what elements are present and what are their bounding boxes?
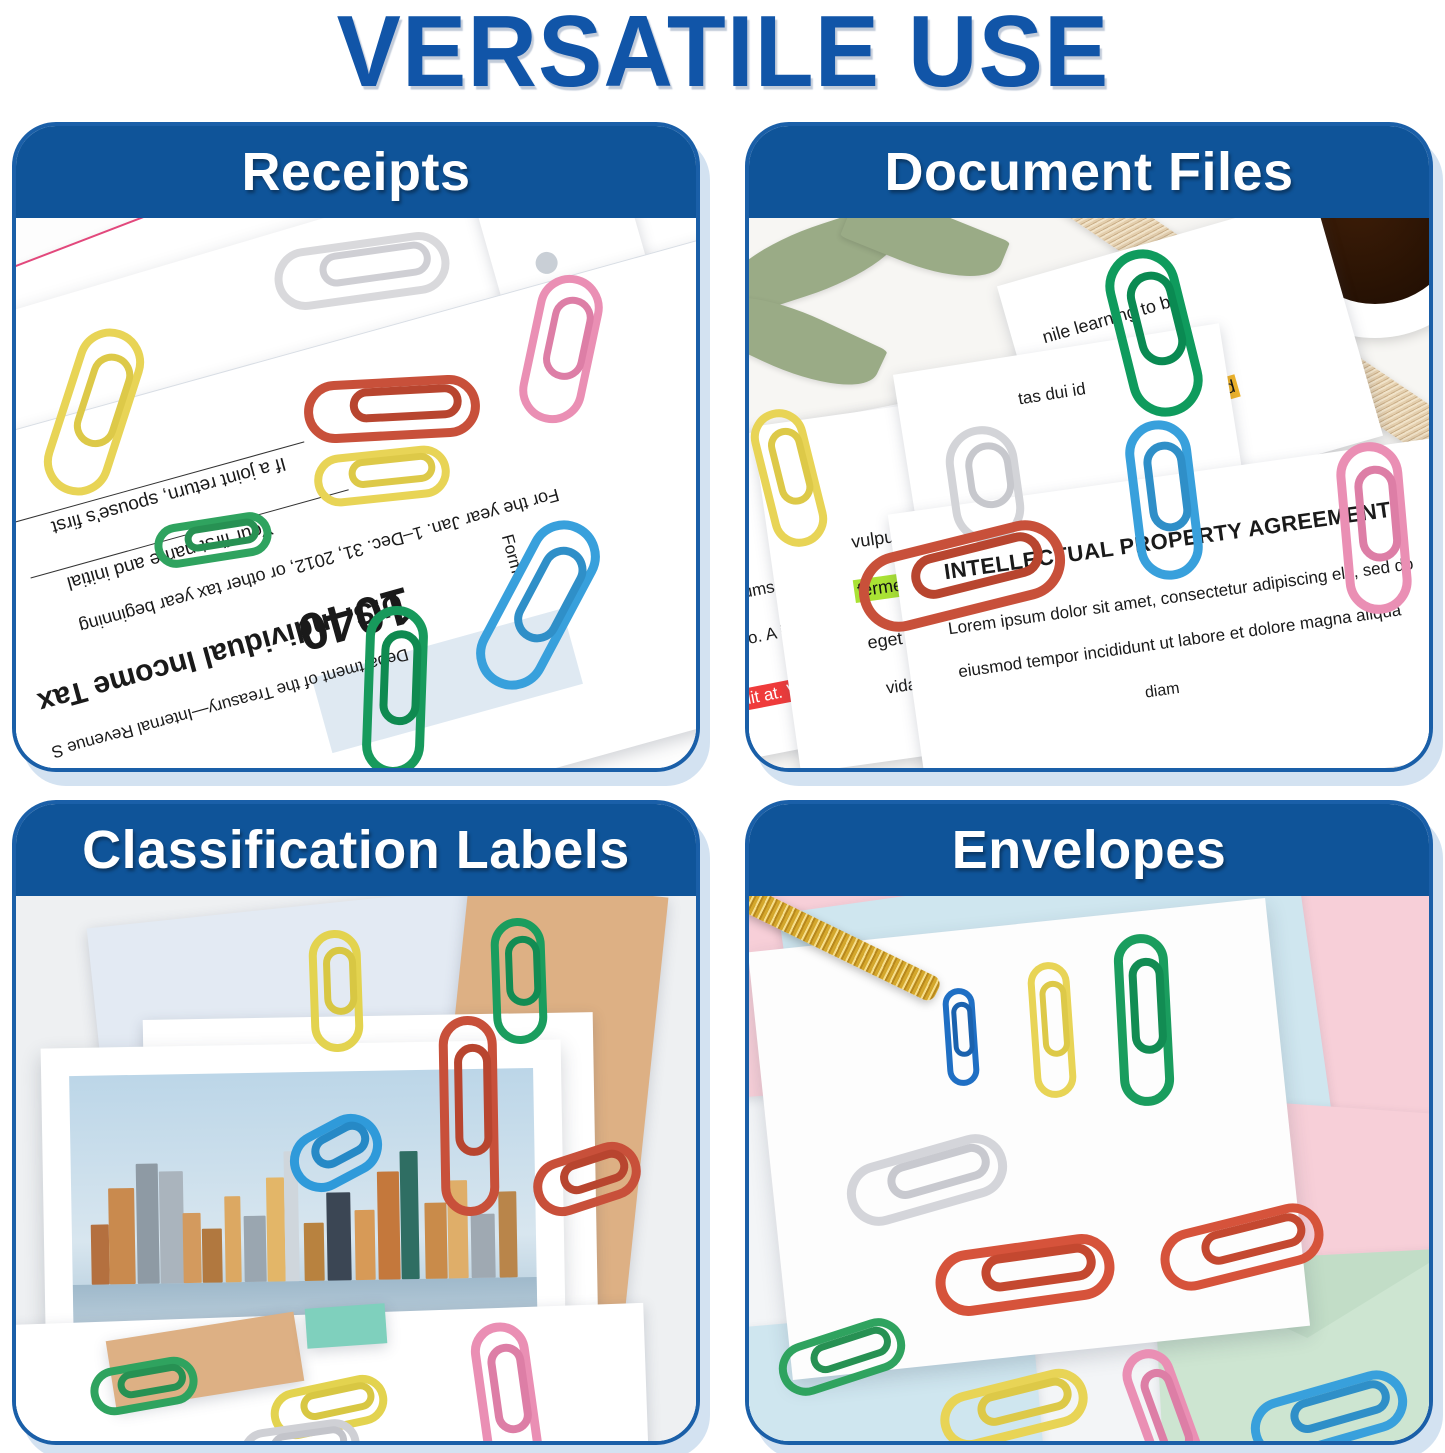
panel-title-document-files: Document Files <box>884 141 1293 203</box>
panel-photo-document-files: nile learning to be gs, improve your den… <box>749 218 1429 768</box>
paperclip-yellow-cl <box>308 929 364 1053</box>
panel-classification-labels[interactable]: Classification Labels <box>12 800 700 1445</box>
panel-header-receipts: Receipts <box>16 126 696 218</box>
paperclip-red-cl <box>438 1016 499 1217</box>
panel-title-classification-labels: Classification Labels <box>82 819 630 881</box>
paperclip-red-1 <box>302 373 481 444</box>
panel-photo-receipts: a Employee's social Income Tax Return fo… <box>16 218 696 768</box>
panel-card: Document Files nile learning to be gs, i… <box>745 122 1433 772</box>
paper-teal-small <box>305 1303 388 1348</box>
panel-title-receipts: Receipts <box>241 141 470 203</box>
panel-envelopes[interactable]: Envelopes <box>745 800 1433 1445</box>
panel-grid: Receipts a Employee's social Income Tax … <box>0 112 1445 1453</box>
panel-card: Envelopes <box>745 800 1433 1445</box>
panel-photo-classification-labels: Alice <box>16 896 696 1441</box>
paperclip-green-env <box>1113 933 1176 1108</box>
panel-header-envelopes: Envelopes <box>749 804 1429 896</box>
panel-card: Receipts a Employee's social Income Tax … <box>12 122 700 772</box>
panel-title-envelopes: Envelopes <box>952 819 1227 881</box>
paperclip-blue-env <box>942 987 981 1087</box>
panel-header-document-files: Document Files <box>749 126 1429 218</box>
panel-receipts[interactable]: Receipts a Employee's social Income Tax … <box>12 122 700 772</box>
page-title-bar: VERSATILE USE <box>0 0 1445 104</box>
panel-photo-envelopes <box>749 896 1429 1441</box>
panel-document-files[interactable]: Document Files nile learning to be gs, i… <box>745 122 1433 772</box>
paperclip-green-2 <box>361 605 429 768</box>
paperclip-green-cl <box>490 917 548 1045</box>
page-title: VERSATILE USE <box>336 0 1109 110</box>
panel-header-classification-labels: Classification Labels <box>16 804 696 896</box>
panel-card: Classification Labels <box>12 800 700 1445</box>
